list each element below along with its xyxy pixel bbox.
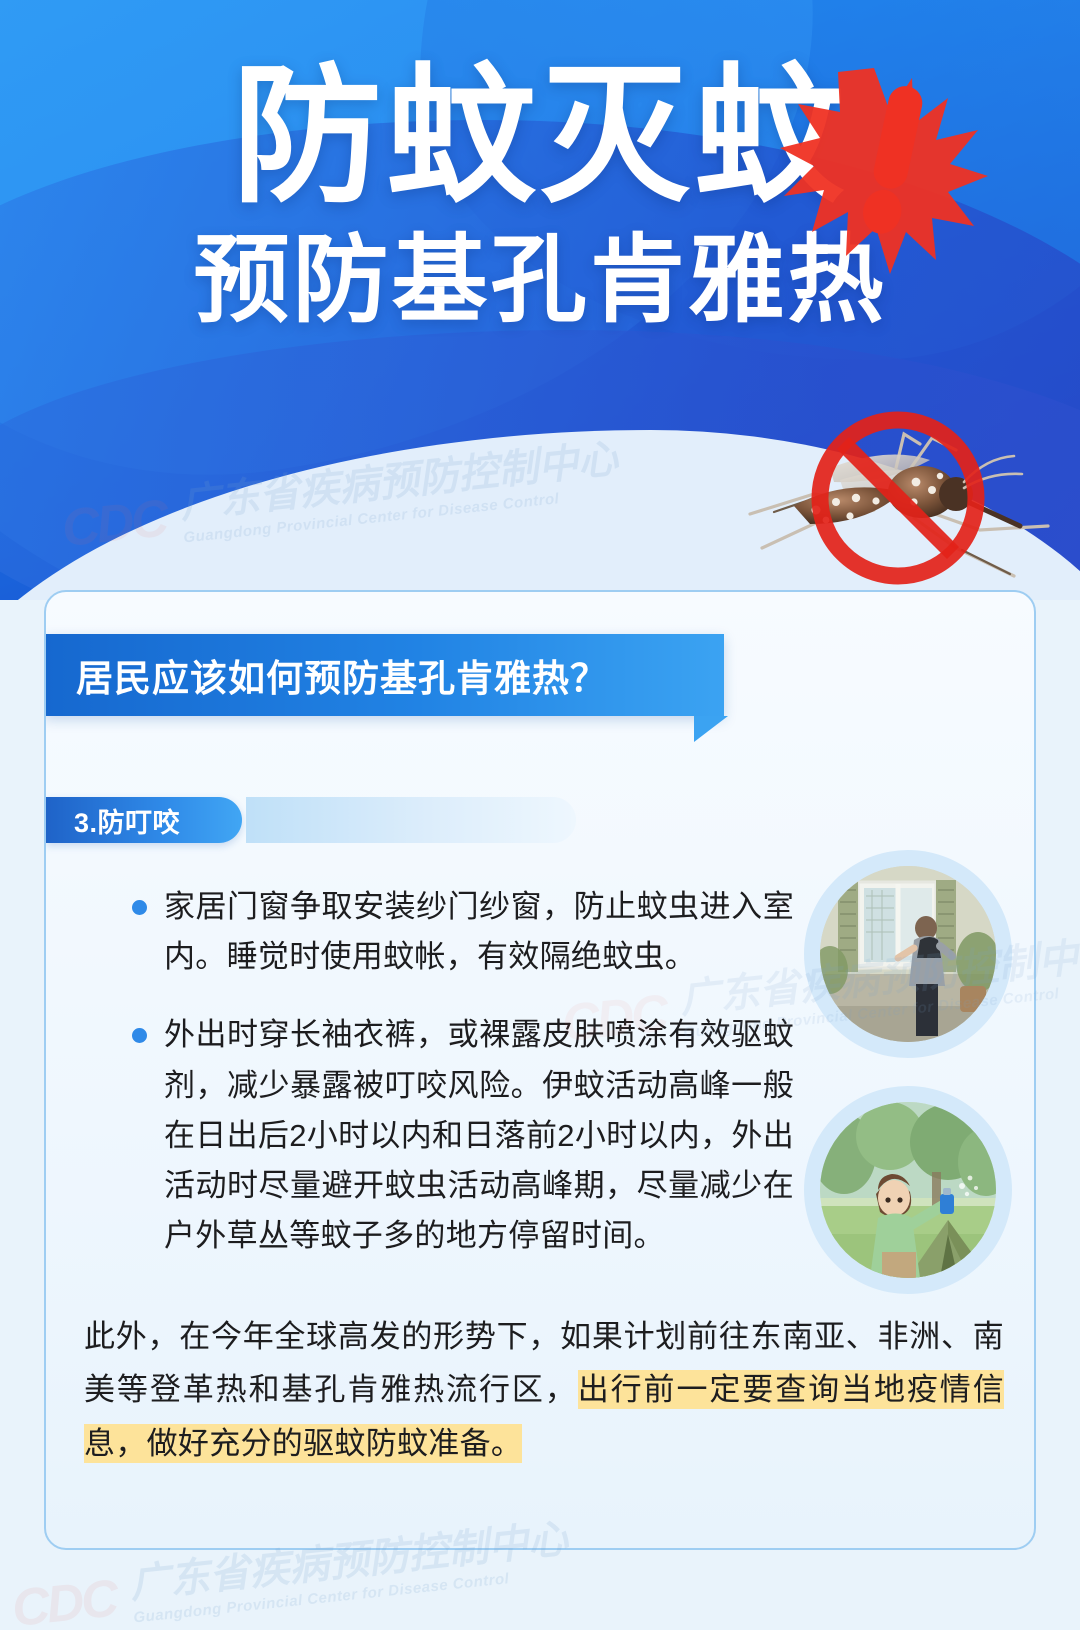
illustration-halo	[804, 850, 1012, 1058]
list-item: 外出时穿长袖衣裤，或裸露皮肤喷涂有效驱蚊剂，减少暴露被叮咬风险。伊蚊活动高峰一般…	[114, 1010, 794, 1261]
illustration-halo	[804, 1086, 1012, 1294]
poster-subtitle: 预防基孔肯雅热	[0, 226, 1080, 336]
mosquito-prohibited-icon	[718, 398, 1070, 598]
section-tab-extension-bar	[246, 797, 576, 843]
illustration-column	[804, 850, 1012, 1322]
footer-spacer	[0, 1550, 1080, 1630]
question-banner-tail-icon	[694, 716, 728, 742]
section-tab-row: 3.防叮咬	[46, 797, 1036, 843]
closing-paragraph: 此外，在今年全球高发的形势下，如果计划前往东南亚、非洲、南美等登革热和基孔肯雅热…	[84, 1310, 1004, 1470]
question-banner-text: 居民应该如何预防基孔肯雅热？	[76, 648, 608, 702]
question-banner: 居民应该如何预防基孔肯雅热？	[44, 634, 724, 716]
section-tab-prevent-bites: 3.防叮咬	[46, 797, 242, 843]
bullet-list: 家居门窗争取安装纱门纱窗，防止蚊虫进入室内。睡觉时使用蚊帐，有效隔绝蚊虫。 外出…	[114, 882, 794, 1290]
title-block: 防蚊灭蚊 预防基孔肯雅热	[0, 52, 1080, 336]
section-tab-label: 3.防叮咬	[74, 801, 180, 840]
bullet-dot-icon	[132, 900, 147, 915]
list-item: 家居门窗争取安装纱门纱窗，防止蚊虫进入室内。睡觉时使用蚊帐，有效隔绝蚊虫。	[114, 882, 794, 982]
poster-title: 防蚊灭蚊	[232, 52, 848, 220]
content-card: 居民应该如何预防基孔肯雅热？ 3.防叮咬 家居门窗争取安装纱门纱窗，防止蚊虫进入…	[44, 590, 1036, 1550]
illustration-repellent-camping	[820, 1102, 996, 1278]
bullet-text: 家居门窗争取安装纱门纱窗，防止蚊虫进入室内。睡觉时使用蚊帐，有效隔绝蚊虫。	[164, 882, 794, 982]
poster-root: 防蚊灭蚊 预防基孔肯雅热	[0, 0, 1080, 1630]
bullet-dot-icon	[132, 1028, 147, 1043]
illustration-window-screen	[820, 866, 996, 1042]
bullet-text: 外出时穿长袖衣裤，或裸露皮肤喷涂有效驱蚊剂，减少暴露被叮咬风险。伊蚊活动高峰一般…	[164, 1010, 794, 1261]
